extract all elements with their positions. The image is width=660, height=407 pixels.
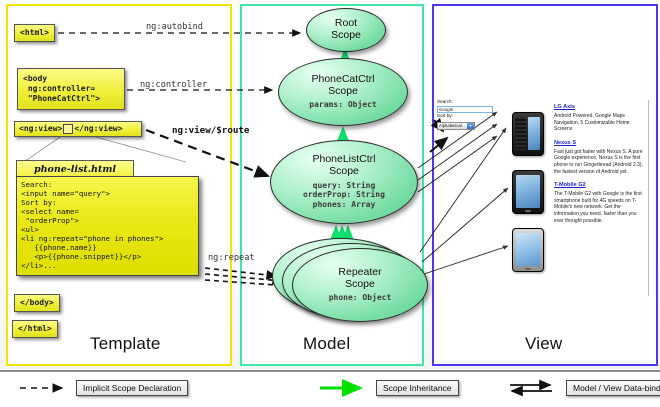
scope-phonelistctrl: PhoneListCtrlScope query: StringorderPro… — [270, 140, 418, 224]
legend-item-implicit-scope-declaration: Implicit Scope Declaration — [18, 380, 188, 396]
sort-select[interactable]: Alphabetical ▾ — [437, 122, 475, 130]
connector-label-controller: ng:controller — [140, 80, 207, 90]
ng-view-slot-icon — [63, 124, 73, 134]
html-close-tag-box: </html> — [12, 320, 58, 338]
phone-snippet: Fast just got faster with Nexus S. A pur… — [554, 149, 646, 175]
column-label-template: Template — [90, 334, 161, 354]
legend-label: Model / View Data-binding — [566, 380, 660, 396]
green-arrow-icon — [318, 381, 370, 395]
phone-snippet: Android Powered, Google Maps Navigation,… — [554, 113, 646, 133]
connector-label-ngview: ng:view/$route — [172, 125, 249, 136]
sort-select-value: Alphabetical — [439, 123, 462, 128]
callout-title: phone-list.html — [16, 160, 134, 177]
legend: Implicit Scope Declaration Scope Inherit… — [0, 370, 660, 407]
scope-phonecatctrl-props: params: Object — [309, 100, 376, 110]
connector-label-repeat: ng:repeat — [208, 253, 255, 263]
list-item[interactable]: LG Axis Android Powered, Google Maps Nav… — [554, 104, 646, 133]
phone-name-link[interactable]: Nexus S — [554, 140, 646, 148]
scope-phonecatctrl: PhoneCatCtrlScope params: Object — [278, 58, 408, 126]
phone-name-link[interactable]: T-Mobile G2 — [554, 182, 646, 190]
scope-root: RootScope — [306, 8, 386, 52]
body-controller-tag-box: <body ng:controller= "PhoneCatCtrl"> — [17, 68, 125, 110]
callout-code: Search: <input name="query"> Sort by: <s… — [16, 176, 199, 276]
search-label: Search: — [437, 99, 495, 106]
body-close-tag-box: </body> — [14, 294, 60, 312]
legend-item-scope-inheritance: Scope Inheritance — [318, 380, 459, 396]
ng-view-tag-box: <ng:view> </ng:view> — [14, 121, 142, 137]
sort-label: Sort by: — [437, 113, 495, 120]
scope-repeater-title: RepeaterScope — [338, 267, 381, 291]
legend-item-model-view-data-binding: Model / View Data-binding — [508, 380, 660, 396]
legend-label: Implicit Scope Declaration — [76, 380, 188, 396]
phone-thumbnail-t-mobile-g2 — [512, 228, 544, 272]
phone-name-link[interactable]: LG Axis — [554, 104, 646, 112]
column-label-model: Model — [303, 334, 350, 354]
phone-screen — [516, 175, 540, 208]
phone-snippet: The T-Mobile G2 with Google is the first… — [554, 191, 646, 224]
view-scroll-divider — [648, 100, 649, 296]
scope-phonelistctrl-props: query: StringorderProp: Stringphones: Ar… — [303, 181, 385, 210]
scope-repeater-props: phone: Object — [329, 293, 392, 303]
legend-label: Scope Inheritance — [376, 380, 459, 396]
list-item[interactable]: Nexus S Fast just got faster with Nexus … — [554, 140, 646, 175]
architecture-diagram: <html> <body ng:controller= "PhoneCatCtr… — [0, 0, 660, 368]
phone-list-template-callout: phone-list.html Search: <input name="que… — [16, 160, 199, 288]
phone-list: LG Axis Android Powered, Google Maps Nav… — [554, 104, 646, 231]
scope-phonelistctrl-title: PhoneListCtrlScope — [312, 154, 375, 178]
html-open-tag-box: <html> — [14, 24, 55, 42]
phone-thumbnail-nexus-s — [512, 170, 544, 214]
dashed-arrow-icon — [18, 381, 70, 395]
connector-label-autobind: ng:autobind — [146, 22, 203, 32]
ng-view-close-tag: </ng:view> — [74, 124, 122, 134]
scope-repeater: RepeaterScope phone: Object — [292, 248, 428, 322]
scope-root-title: RootScope — [331, 18, 361, 42]
search-input[interactable]: Google — [437, 106, 493, 113]
browser-controls: Search: Google Sort by: Alphabetical ▾ — [437, 99, 495, 144]
phone-screen — [528, 117, 540, 150]
column-label-view: View — [525, 334, 562, 354]
double-arrow-icon — [508, 381, 560, 395]
phone-thumbnail-lg-axis — [512, 112, 544, 156]
phone-keyboard — [515, 117, 526, 150]
phone-home-button — [525, 268, 531, 270]
phone-home-button — [525, 210, 531, 212]
chevron-down-icon: ▾ — [467, 123, 474, 129]
scope-phonecatctrl-title: PhoneCatCtrlScope — [311, 74, 374, 98]
ng-view-open-tag: <ng:view> — [19, 124, 62, 134]
phone-screen — [516, 233, 540, 266]
list-item[interactable]: T-Mobile G2 The T-Mobile G2 with Google … — [554, 182, 646, 224]
